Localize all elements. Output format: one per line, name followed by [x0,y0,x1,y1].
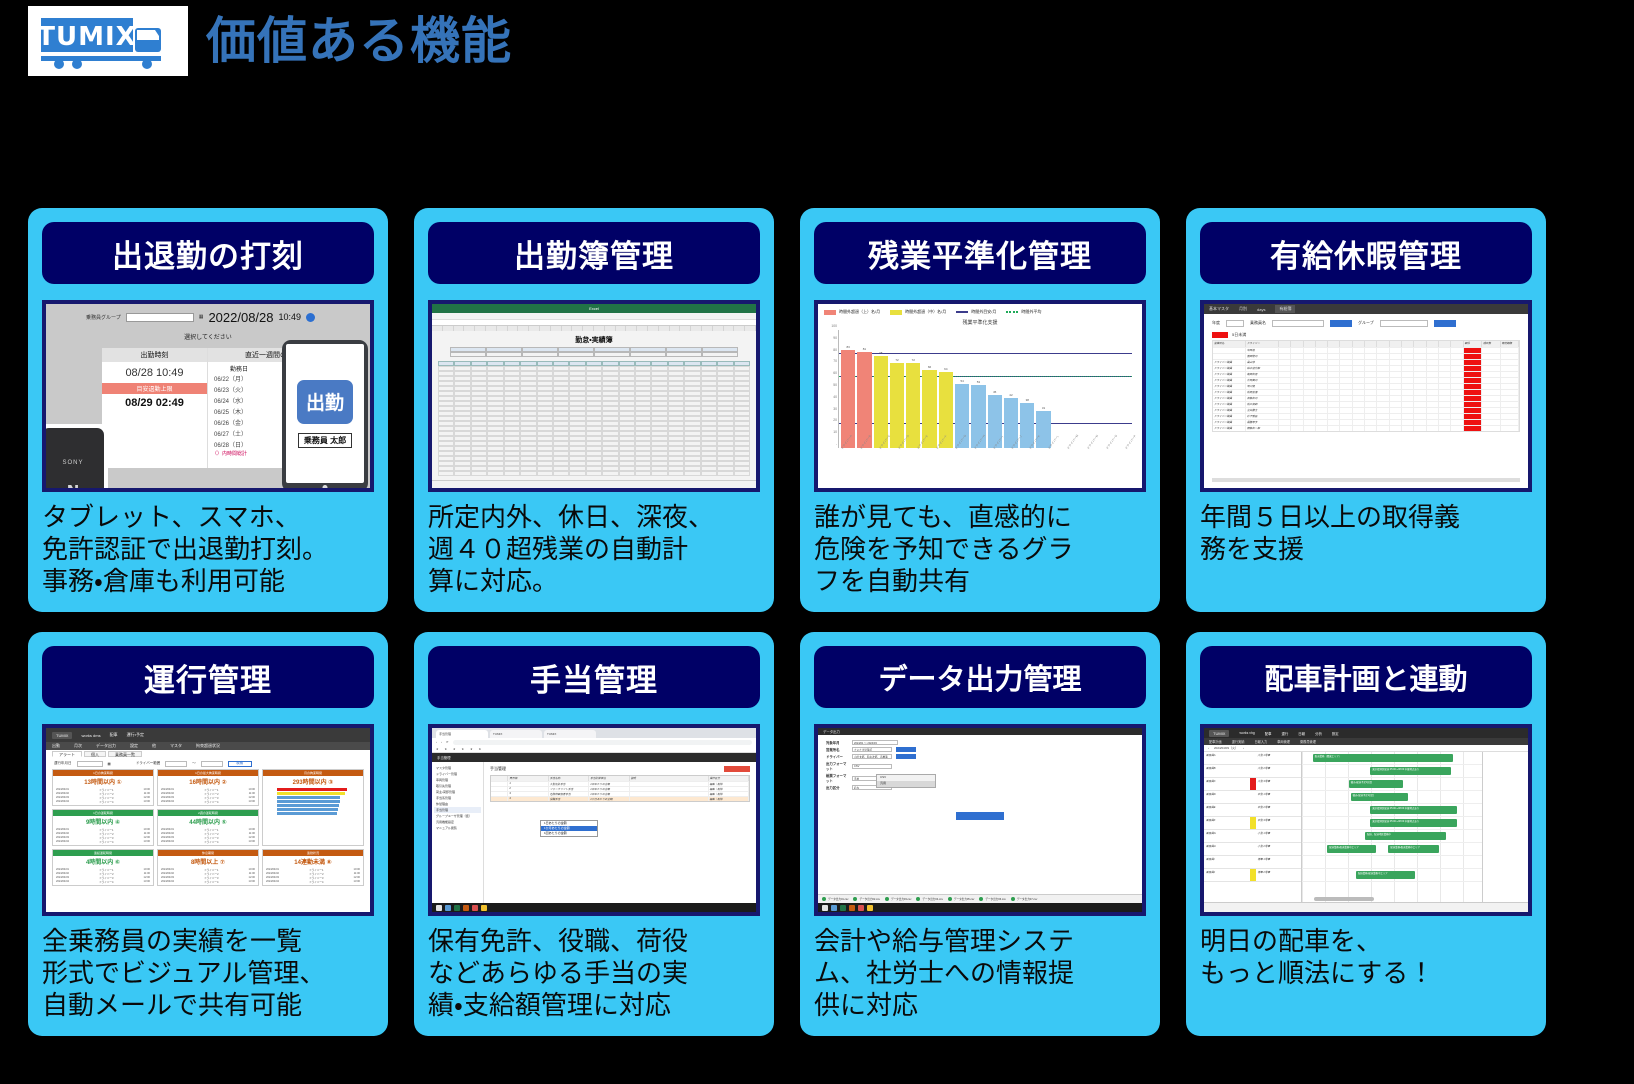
table-cell [1439,420,1451,425]
gantt-row[interactable]: 東京都港区配送 05:00〜08:00 中継地点あり [1302,765,1482,778]
field-input[interactable]: 2024/01 〜 2024/03 [852,740,898,745]
gantt-row[interactable] [1302,856,1482,869]
table-row[interactable]: ドライバー職員斉藤和司 [1213,395,1519,401]
app-nav[interactable]: 基本マスタ 月別 days 有給簿 [1204,304,1528,314]
driver-label: 乗務員B [1204,765,1250,777]
table-cell [1340,360,1352,365]
table-cell [1482,414,1501,419]
table-cell [1451,408,1463,413]
topbar-menu[interactable]: 配車 [110,732,118,738]
gantt-timeline[interactable]: 配送業務（関東エリア）東京都港区配送 05:00〜08:00 中継地点あり積込・… [1302,752,1482,902]
table-row[interactable]: ドライバー職員早川優 [1213,383,1519,389]
group-search-button[interactable] [1434,320,1456,327]
table-cell [1427,426,1439,431]
table-cell [1427,366,1439,371]
table-row[interactable]: ドライバー職員杉下雅臣 [1213,413,1519,419]
screenshot-excel: Excel 勤怠・実績簿 [428,300,760,492]
download-item[interactable]: データ出力01.csv [822,897,848,901]
gantt-task-bar[interactable]: 東京都港区配送 05:00〜08:00 中継地点あり [1370,767,1451,775]
table-cell [1279,378,1291,383]
table-row[interactable]: 1大型免許手当1日あたりの金額編集｜削除 [491,781,749,786]
table-cell [1279,360,1291,365]
mini-chart-bar [277,800,340,803]
side-menu[interactable]: マスタ管理ドライバー管理車両管理取引先管理荷主・荷卸管理手当系管理休憩理由手当管… [432,762,484,903]
column-header [1328,341,1340,347]
table-row[interactable]: 豊田隆司 [1213,353,1519,359]
taskbar-icon[interactable] [867,905,873,911]
search-button[interactable] [1330,320,1352,327]
bookmarks-bar[interactable]: ★ ★ ★ ★ ★ ★ [432,746,756,753]
legend-label: 時間外超過（中）名/月 [905,309,946,315]
table-cell: 松尾直信 [1246,390,1279,395]
table-row[interactable]: ドライバー職員飯田和男 [1213,371,1519,377]
chart-bar: 78 [874,356,888,448]
field-label: ドライバー [826,754,848,759]
download-filename: データ出力01.csv [828,897,848,901]
search-button[interactable]: 検索 [228,761,252,767]
app-topbar[interactable]: TUMIX works vhg 配車 運行 日報 分析 設定 [1204,728,1528,738]
bookmark-item[interactable]: ★ [470,747,473,751]
app-mainnav[interactable]: 出勤 月次 データ出力 設定 他 マスタ 拘束超過状況 [46,742,370,750]
gantt-task-bar[interactable]: 配送業務・配送業務中エリア [1388,845,1438,853]
table-cell [1316,414,1328,419]
table-cell [630,797,709,801]
nav-item[interactable]: 日報 [1298,731,1305,736]
table-cell [1316,420,1328,425]
kpi-panel[interactable]: 2週の運転時間44時間以内 ⑤2024/04/01ドライバー110:002024… [157,809,259,846]
browser-window: 手当管理 TUMIX TUMIX ‹ › ⟳ ★ ★ ★ ★ [432,728,756,912]
page-header: TUMIX 価値ある機能 [28,6,512,76]
tab-daily-report[interactable]: 日報入力 [1255,739,1268,744]
table-cell [1439,390,1451,395]
table-cell [1316,378,1328,383]
table-cell [1427,402,1439,407]
download-item[interactable]: データ出力05.csv [948,897,974,901]
column-header [1353,341,1365,347]
table-cell [1291,420,1303,425]
browser-tab[interactable]: 手当管理 [436,730,488,738]
screenshot-allowance-browser: 手当管理 TUMIX TUMIX ‹ › ⟳ ★ ★ ★ ★ [428,724,760,916]
table-cell [1482,420,1501,425]
table-cell [1439,414,1451,419]
tab-driver[interactable]: 乗務員管理 [1300,739,1316,744]
select-button[interactable] [896,747,916,752]
table-cell [1353,354,1365,359]
export-button[interactable] [956,812,1004,820]
nav-item[interactable]: 設定 [130,743,138,749]
table-row[interactable]: ドライバー職員金井勝士 [1213,407,1519,413]
tab-vehicle[interactable]: 車両管理 [1277,739,1290,744]
download-item[interactable]: データ出力04.csv [916,897,942,901]
table-cell [1316,426,1328,431]
table-cell [1501,372,1520,377]
gantt-task-bar[interactable]: 配送業務・配送業務中エリア [1356,871,1415,879]
chart-title: 残業平準化支援 [824,319,1136,326]
field-input[interactable]: 山田太郎、鈴木次郎、高橋蓮 [852,754,892,759]
driver-label: 乗務員A [1204,752,1250,764]
nav-item[interactable]: マスタ [170,743,182,749]
gantt-row[interactable]: 積込・配送予定1回目 [1302,778,1482,791]
feature-card-driving-management[interactable]: 運行管理 TUMIX works dms 配車 運行・予定 出勤 月次 データ出… [28,632,388,1036]
paid-leave-app: 基本マスタ 月別 days 有給簿 年度 乗務員名 グループ [1204,304,1528,488]
form-row: 帳票フォーマット汎用 [826,773,1134,783]
column-header [1291,341,1303,347]
unit-dropdown[interactable]: 1日あたりの金額 1か月あたりの金額 1回あたりの金額 [540,820,598,837]
gantt-row-headers: 乗務員A大型 1号車乗務員B大型 2号車乗務員C大型 3号車乗務員D中型 1号車… [1204,752,1302,902]
table-cell: フォークリフト手当 [549,787,589,791]
driver-search-input[interactable] [1272,320,1324,327]
table-cell [1414,372,1426,377]
table-cell: 1日あたりの金額 [589,787,629,791]
kpi-panel[interactable]: 1日の最大拘束時間16時間以内 ②2024/04/01ドライバー110:0020… [157,769,259,806]
table-cell [1439,378,1451,383]
bookmark-item[interactable]: ★ [445,747,448,751]
taskbar-icon[interactable] [849,905,855,911]
gantt-row-header[interactable]: 乗務員B大型 2号車 [1204,765,1301,778]
nav-item[interactable]: 分析 [1315,731,1322,736]
feature-card-attendance-book[interactable]: 出勤簿管理 Excel 勤怠・実績簿 [414,208,774,612]
nav-item-active[interactable]: 有給簿 [1275,305,1295,313]
nav-item[interactable]: 運行 [1282,731,1289,736]
mini-chart-bar [277,812,337,815]
format-dropdown[interactable]: CSV 汎用 [876,774,936,788]
y-tick-label: 100 [831,324,837,328]
taskbar-icon[interactable] [858,905,864,911]
row-day: 06/28（日） [214,440,247,449]
back-icon[interactable]: ‹ [436,740,437,744]
table-row[interactable]: ドライバー職員齋藤和一郎 [1213,425,1519,431]
table-cell [1365,354,1377,359]
gantt-task-bar[interactable]: 配送業務・配送業務中エリア [1327,845,1376,853]
app-navbar: データ出力 [818,728,1142,735]
tab-bar[interactable]: 配車計画 運行実績 日報入力 車両管理 乗務員管理 [1204,738,1528,745]
gantt-toolbar[interactable]: ‹ 2024/04/09（火） › [1204,745,1528,752]
table-row[interactable]: 3危険物取扱者手当1日あたりの金額編集｜削除 [491,791,749,796]
gantt-row-header[interactable]: 乗務員A大型 1号車 [1204,752,1301,765]
tab-individual[interactable]: 個人 [84,751,106,757]
browser-urlbar[interactable]: ‹ › ⟳ [432,738,756,746]
panel-rows: 2024/04/01ドライバー110:002024/04/02ドライバー211:… [53,827,153,845]
download-item[interactable]: データ出力03.csv [885,897,911,901]
nav-item[interactable]: 出勤 [52,743,60,749]
download-item[interactable]: データ出力07.csv [1011,897,1037,901]
tab-label: 手当管理 [439,732,451,736]
tab-bar[interactable]: アラート 個人 乗務員一覧 [46,750,370,758]
table-row[interactable]: ドライバー職員片岡真司 [1213,377,1519,383]
kpi-panel[interactable]: 休息期間8時間以上 ⑦2024/04/01ドライバー110:002024/04/… [157,849,259,886]
gantt-row[interactable]: 配送業務（関東エリア） [1302,752,1482,765]
download-item[interactable]: データ出力02.csv [853,897,879,901]
nav-item[interactable]: 設定 [1332,731,1339,736]
bookmark-item[interactable]: ★ [479,747,482,751]
dropdown-option[interactable]: 1回あたりの金額 [541,831,597,836]
driver-label: 乗務員H [1204,843,1250,855]
table-cell [1365,408,1377,413]
gantt-row[interactable]: 配送業務・配送業務中エリア配送業務・配送業務中エリア [1302,843,1482,856]
bar-value-label: 38 [1020,398,1034,402]
table-cell [1439,426,1451,431]
table-cell: 中西進 [1246,348,1279,353]
calendar-icon[interactable]: ▦ [108,762,111,766]
table-cell [1340,402,1352,407]
main-panel: 手当管理 表示順手当名称手当計算単位説明操作区分1大型免許手当1日あたりの金額編… [484,762,756,903]
taskbar-icon[interactable] [831,905,837,911]
nav-item[interactable]: 基本マスタ [1209,306,1229,312]
gantt-row[interactable]: 東京都港区配送 05:00〜08:00 中継地点あり [1302,804,1482,817]
field-input[interactable]: CSV [852,764,892,769]
list-item: 2024/04/04ドライバー413:00 [161,880,255,884]
chart-plot-area: -102030405060708090100 83817872726664545… [838,330,1132,448]
clockin-button[interactable]: 出勤 [297,380,353,424]
table-cell [1377,426,1389,431]
bookmark-item[interactable]: ★ [436,747,439,751]
horizontal-scrollbar[interactable] [1314,897,1374,901]
table-cell [1414,378,1426,383]
table-cell [1291,360,1303,365]
kpi-panel[interactable]: 1日の運転時間9時間以内 ④2024/04/01ドライバー110:002024/… [52,809,154,846]
taskbar-icon[interactable] [445,905,451,911]
gantt-row-header[interactable]: 乗務員C大型 3号車 [1204,778,1301,791]
kpi-panel[interactable]: 連勤状況14連勤未満 ⑧2024/04/01ドライバー110:002024/04… [262,849,364,886]
vehicle-label: 小型 2号車 [1256,843,1302,855]
date-input[interactable] [77,761,103,767]
feature-card-punch-clock[interactable]: 出退勤の打刻 乗務員グループ ▦ 2022/08/28 10:49 選択してくだ… [28,208,388,612]
bar-value-label: 81 [857,347,871,351]
table-cell [1328,426,1340,431]
table-row[interactable]: ドライバー職員松戸拓郎 [1213,401,1519,407]
table-cell: ドライバー職員 [1213,360,1246,365]
nav-item[interactable]: 配車 [1265,731,1272,736]
table-cell [1316,396,1328,401]
panel-value: 16時間以内 ② [158,776,258,787]
column-header [1402,341,1414,347]
table-row[interactable]: ドライバー職員桑山修 [1213,359,1519,365]
group-select[interactable] [126,313,194,322]
gantt-row-header[interactable]: 乗務員G小型 1号車 [1204,830,1301,843]
highlight-cell [1464,420,1483,425]
column-header: 手当名称 [549,776,589,781]
table-cell [1291,414,1303,419]
table-cell [1451,360,1463,365]
gantt-row-header[interactable]: 乗務員I増車 1号車 [1204,856,1301,869]
table-cell [1328,372,1340,377]
bar-fill [874,356,888,448]
download-item[interactable]: データ出力06.csv [979,897,1005,901]
forward-icon[interactable]: › [441,740,442,744]
table-cell [1451,426,1463,431]
table-cell [1328,420,1340,425]
nav-item[interactable]: 他 [152,743,156,749]
gantt-row-header[interactable]: 乗務員J増車 2号車 [1204,869,1301,882]
next-day-icon[interactable]: › [1243,746,1244,750]
reload-icon[interactable]: ⟳ [446,740,449,744]
table-cell [1427,420,1439,425]
table-row[interactable]: 中西進 [1213,347,1519,353]
gantt-task-bar[interactable]: 配送、配送地区業務中 [1365,832,1446,840]
row-day: 06/22（月） [214,374,247,383]
range-to-input[interactable] [201,761,223,767]
card-title: 出退勤の打刻 [42,222,374,284]
tab-alert[interactable]: アラート [52,751,82,757]
gantt-row[interactable]: 配送、配送地区業務中 [1302,830,1482,843]
column-header: 残日数 [1482,341,1501,347]
table-row[interactable]: 2フォークリフト手当1日あたりの金額編集｜削除 [491,786,749,791]
row-day: 06/23（火） [214,385,247,394]
table-cell: 役職手当 [549,797,589,801]
table-cell [1328,408,1340,413]
excel-ribbon-tabs[interactable] [432,313,756,320]
table-cell [1451,390,1463,395]
range-label: ドライバー範囲 [136,761,160,766]
highlight-cell [1464,366,1483,371]
browser-tab[interactable]: TUMIX [490,730,542,738]
horizontal-scrollbar[interactable] [1212,478,1520,482]
gantt-row[interactable]: 配送業務・配送業務中エリア [1302,869,1482,882]
dropdown-option-selected[interactable]: 汎用 [877,781,935,787]
kpi-panel[interactable]: 連続運転時間4時間以内 ⑥2024/04/01ドライバー110:002024/0… [52,849,154,886]
brand-logo: TUMIX [52,732,72,739]
table-cell [1414,360,1426,365]
table-cell: 大型免許手当 [549,782,589,786]
table-cell: 松戸拓郎 [1246,402,1279,407]
table-cell [1414,426,1426,431]
highlight-cell [1464,426,1483,431]
group-search-input[interactable] [1380,320,1428,327]
table-cell [1427,390,1439,395]
nav-item[interactable]: 月別 [1239,306,1247,312]
field-input[interactable]: さいたま営業所 [852,747,892,752]
gantt-row[interactable]: 積込・配送予定1回目 [1302,791,1482,804]
table-cell [1439,402,1451,407]
table-cell [1340,378,1352,383]
feature-card-allowance-management[interactable]: 手当管理 手当管理 TUMIX TUMIX ‹ › ⟳ ★ [414,632,774,1036]
table-cell: 豊田隆司 [1246,354,1279,359]
nav-item[interactable]: 月次 [74,743,82,749]
table-cell [1365,372,1377,377]
browser-tab[interactable]: TUMIX [544,730,596,738]
page-title: 拘束超過状況 [196,743,220,749]
gantt-task-bar[interactable]: 東京都港区配送 05:00〜08:00 中継地点あり [1370,819,1456,827]
panel-value: 9時間以内 ④ [53,816,153,827]
list-item: 2024/04/04ドライバー413:00 [161,800,255,804]
table-cell [1328,384,1340,389]
os-taskbar[interactable] [432,903,756,912]
app-navbar[interactable]: 手当管理 [432,753,756,762]
clockin-header: 出勤時刻 [102,348,207,362]
gantt-footer[interactable] [1204,902,1528,912]
range-from-input[interactable] [165,761,187,767]
gantt-task-bar[interactable]: 東京都港区配送 05:00〜08:00 中継地点あり [1370,806,1456,814]
gantt-row-header[interactable]: 乗務員E中型 2号車 [1204,804,1301,817]
table-cell [1451,414,1463,419]
feature-card-data-output[interactable]: データ出力管理 データ出力 対象年月2024/01 〜 2024/03営業所名さ… [800,632,1160,1036]
table-cell [1501,384,1520,389]
table-cell [630,792,709,796]
table-row[interactable]: ドライバー職員松尾直信 [1213,389,1519,395]
form-row: 営業所名さいたま営業所 [826,747,1134,752]
tab-dispatch-plan[interactable]: 配車計画 [1209,739,1222,744]
legend-label: 時間外目安/月 [971,309,996,315]
select-button[interactable] [896,754,916,759]
punch-clock-topbar: 乗務員グループ ▦ 2022/08/28 10:49 [46,304,370,330]
gantt-row-header[interactable]: 乗務員H小型 2号車 [1204,843,1301,856]
taskbar-icon[interactable] [463,905,469,911]
file-icon [853,897,857,901]
kpi-panel[interactable]: 1日の拘束時間13時間以内 ①2024/04/01ドライバー110:002024… [52,769,154,806]
browser-tabstrip[interactable]: 手当管理 TUMIX TUMIX [432,728,756,738]
bookmark-item[interactable]: ★ [462,747,465,751]
feature-card-overtime-leveling[interactable]: 残業平準化管理 時間外超過（上）名/月 時間外超過（中）名/月 [800,208,1160,612]
table-cell [1402,396,1414,401]
table-cell [1390,414,1402,419]
sidebar-item[interactable]: マニュアル閲覧 [434,825,481,831]
taskbar-icon[interactable] [436,905,442,911]
tab-operation-result[interactable]: 運行実績 [1232,739,1245,744]
table-cell [1365,348,1377,353]
bookmark-item[interactable]: ★ [453,747,456,751]
prev-day-icon[interactable]: ‹ [1208,746,1209,750]
gantt-row[interactable]: 東京都港区配送 05:00〜08:00 中継地点あり [1302,817,1482,830]
table-row[interactable]: ドライバー職員鈴木佳代郎 [1213,365,1519,371]
taskbar-icon[interactable] [481,905,487,911]
feature-card-dispatch-plan[interactable]: 配車計画と連動 TUMIX works vhg 配車 運行 日報 分析 設定 配… [1186,632,1546,1036]
topbar-menu[interactable]: 運行・予定 [127,732,144,738]
gantt-task-bar[interactable]: 配送業務（関東エリア） [1313,754,1453,762]
group-label: 乗務員グループ [86,314,121,321]
table-cell [1377,396,1389,401]
data-output-app: データ出力 対象年月2024/01 〜 2024/03営業所名さいたま営業所ドラ… [818,728,1142,912]
vehicle-label: 増車 2号車 [1256,869,1302,881]
os-taskbar[interactable] [818,903,1142,912]
panel-value: 293時間以内 ③ [263,776,363,787]
table-cell [1402,414,1414,419]
card-caption: 所定内外、休日、深夜、 週４０超残業の自動計 算に対応。 [428,502,760,599]
taskbar-icon[interactable] [472,905,478,911]
table-row[interactable]: 4役職手当1か月あたりの金額編集｜削除 [491,796,749,801]
address-input[interactable] [453,740,752,745]
taskbar-icon[interactable] [822,905,828,911]
table-cell: ドライバー職員 [1213,414,1246,419]
table-cell [1427,348,1439,353]
add-button[interactable] [724,766,750,772]
year-select[interactable] [1226,320,1244,327]
table-cell [1279,348,1291,353]
gantt-task-bar[interactable]: 積込・配送予定1回目 [1351,793,1409,801]
taskbar-icon[interactable] [840,905,846,911]
nav-item[interactable]: days [1257,307,1265,312]
table-cell [1501,414,1520,419]
table-row[interactable]: ドライバー職員最勝寺亨 [1213,419,1519,425]
nav-item[interactable]: データ出力 [96,743,116,749]
panel-rows: 2024/04/01ドライバー110:002024/04/02ドライバー211:… [263,867,363,885]
chart-y-axis: -102030405060708090100 [825,330,839,448]
table-cell [1501,366,1520,371]
field-label: 出力フォーマット [826,761,848,771]
taskbar-icon[interactable] [454,905,460,911]
legend-line [956,311,968,313]
table-cell: 3 [508,792,548,796]
gantt-row-header[interactable]: 乗務員F中型 3号車 [1204,817,1301,830]
y-tick-label: 70 [833,359,837,363]
tab-driver-list[interactable]: 乗務員一覧 [108,751,142,757]
gantt-row-header[interactable]: 乗務員D中型 1号車 [1204,791,1301,804]
tablet-device: 出勤 乗務員 太郎 [282,340,368,492]
vehicle-label: 中型 2号車 [1256,804,1302,816]
column-header [1316,341,1328,347]
gantt-task-bar[interactable]: 積込・配送予定1回目 [1349,780,1403,788]
feature-card-paid-leave[interactable]: 有給休暇管理 基本マスタ 月別 days 有給簿 年度 乗務員名 [1186,208,1546,612]
mini-chart-bar [277,804,339,807]
